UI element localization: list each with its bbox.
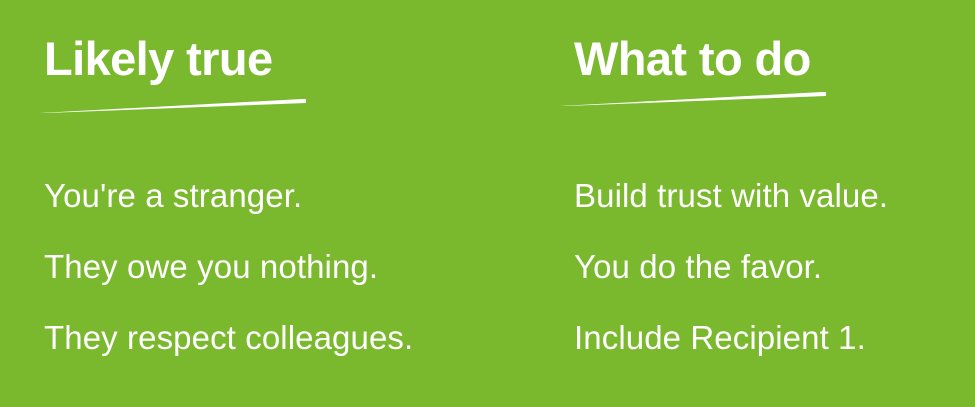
list-item: You do the favor. (574, 231, 888, 302)
list-item: Include Recipient 1. (574, 302, 888, 373)
points-list-likely-true: You're a stranger. They owe you nothing.… (44, 160, 413, 373)
list-item: Build trust with value. (574, 160, 888, 231)
column-heading-what-to-do: What to do (574, 30, 811, 88)
heading-underline-left-icon (40, 98, 306, 114)
heading-underline-right-icon (560, 91, 826, 107)
list-item: You're a stranger. (44, 160, 413, 231)
points-list-what-to-do: Build trust with value. You do the favor… (574, 160, 888, 373)
slide-canvas: Likely true You're a stranger. They owe … (0, 0, 975, 407)
list-item: They respect colleagues. (44, 302, 413, 373)
list-item: They owe you nothing. (44, 231, 413, 302)
column-heading-likely-true: Likely true (44, 30, 273, 88)
column-likely-true: Likely true You're a stranger. They owe … (0, 0, 530, 407)
two-column-layout: Likely true You're a stranger. They owe … (0, 0, 975, 407)
column-what-to-do: What to do Build trust with value. You d… (530, 0, 975, 407)
